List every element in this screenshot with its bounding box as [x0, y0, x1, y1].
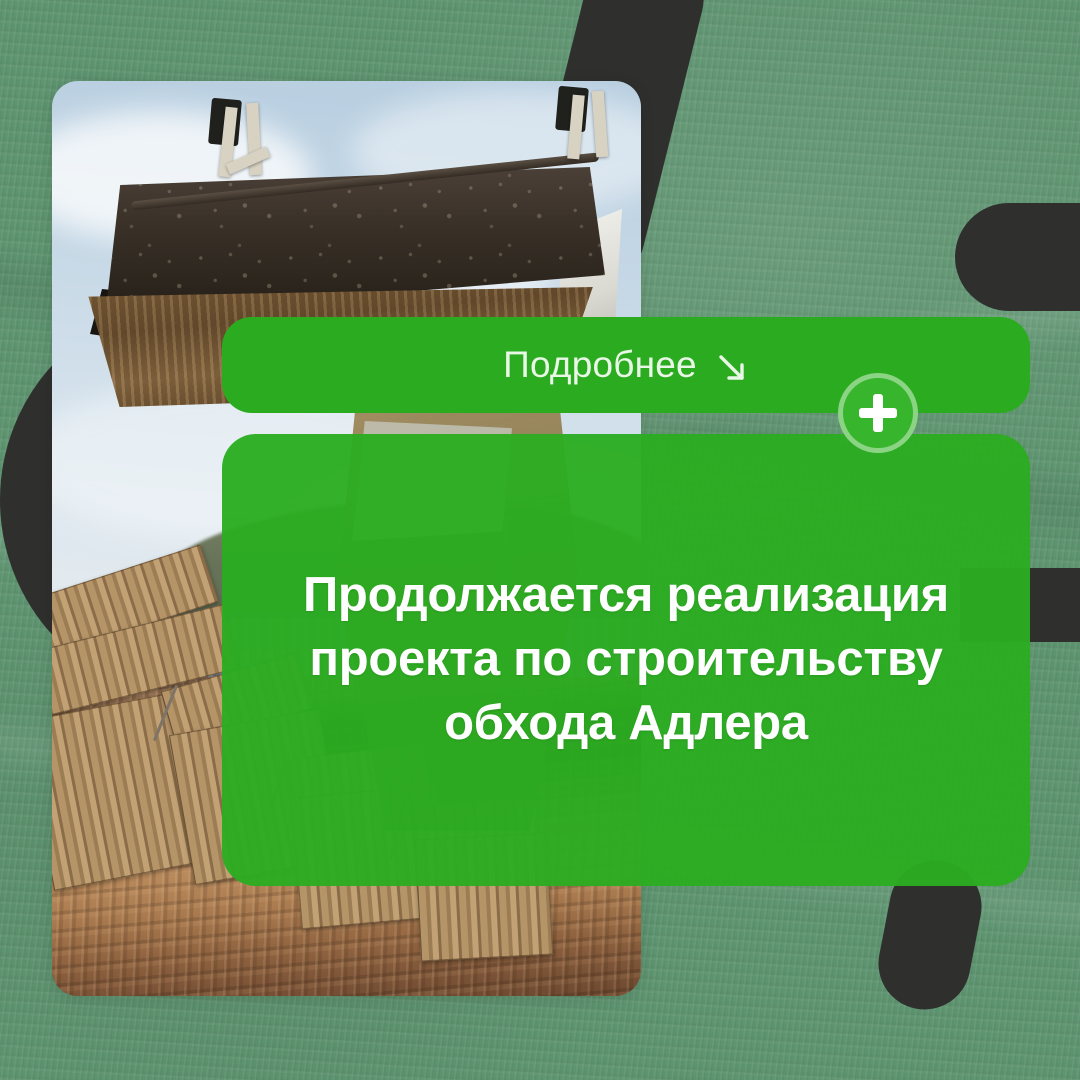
headline-card: Продолжается реализация проекта по строи… [222, 434, 1030, 886]
read-more-label: Подробнее [503, 344, 697, 386]
decoration-right-bar [955, 203, 1080, 311]
read-more-label-wrap: Подробнее [503, 344, 749, 386]
plus-icon [859, 394, 897, 432]
headline-text: Продолжается реализация проекта по строи… [222, 564, 1030, 755]
bucket-bracket [592, 91, 609, 158]
poster-canvas: Подробнее Продолжается реализация проект… [0, 0, 1080, 1080]
arrow-down-right-icon [715, 351, 749, 385]
plus-button[interactable] [838, 373, 918, 453]
